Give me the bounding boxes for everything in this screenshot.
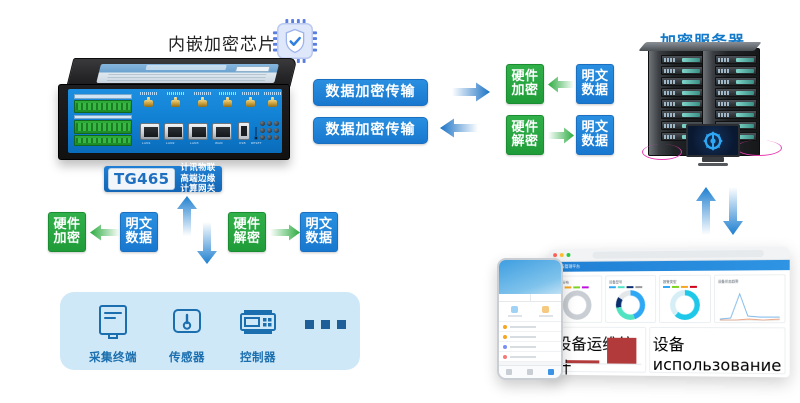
antenna-connector-1 (144, 97, 153, 110)
phone-quick-tiles[interactable] (499, 302, 561, 322)
mobile-app-mockup[interactable] (497, 258, 563, 380)
port-label-lan1: LAN1 (142, 141, 151, 145)
dashboard-card-row-1: 设备分布 设备型号 报警类型 设备状态趋势 (548, 270, 789, 327)
monitor-stand (702, 157, 724, 162)
port-label-lan3: LAN3 (190, 141, 199, 145)
phone-tab-bar[interactable] (499, 294, 561, 302)
reset-stem (255, 127, 257, 136)
device-label-acquisition-terminal: 采集终端 (78, 349, 148, 365)
terminal-label-strip-2 (74, 115, 132, 119)
arrow-right-green-decrypt-right (548, 127, 574, 148)
card-legend (609, 286, 652, 288)
arrow-up-to-gateway (176, 196, 198, 240)
flow-right-hardware-decrypt: 硬件 解密 (506, 115, 544, 155)
card-title: 设备использование统计 (653, 331, 782, 377)
window-minimize-icon[interactable] (560, 253, 564, 257)
list-item[interactable] (499, 352, 561, 362)
card-title: 设备状态趋势 (718, 278, 781, 283)
router-front-panel: LAN1 LAN2 LAN3 WAN USB RESET (68, 89, 282, 153)
flow-left-hardware-decrypt: 硬件 解密 (228, 212, 266, 252)
router-spec-lines (107, 74, 267, 81)
ellipsis-squares-icon (305, 320, 346, 329)
terminal-label-strip-1 (74, 94, 132, 99)
reset-button[interactable] (254, 136, 258, 140)
phone-hero-header (499, 260, 561, 294)
diagram-canvas: 内嵌加密芯片 (0, 0, 800, 403)
antenna-connector-3 (198, 97, 207, 110)
port-label-lan2: LAN2 (166, 141, 175, 145)
dashboard-card: 设备использование统计 (649, 327, 786, 374)
browser-address-bar[interactable] (593, 249, 764, 258)
embedded-chip-label: 内嵌加密芯片 (168, 30, 276, 55)
dashboard-card-row-2: 设备运维统计 设备использование统计 (548, 327, 789, 378)
port-label-wan: WAN (215, 141, 223, 145)
card-title: 设备型号 (609, 279, 652, 284)
status-led-array (260, 121, 279, 140)
list-item[interactable] (499, 322, 561, 332)
antenna-connector-6 (268, 97, 277, 110)
usb-port (238, 122, 250, 140)
monitor-screen (686, 124, 740, 157)
donut-chart (563, 290, 592, 320)
list-item[interactable] (499, 342, 561, 352)
port-label-reset: RESET (251, 141, 262, 145)
field-devices-panel: 采集终端 传感器 控制器 (60, 292, 360, 370)
router-chassis: LAN1 LAN2 LAN3 WAN USB RESET (58, 84, 290, 160)
server-monitor (686, 124, 740, 164)
arrow-down-from-gateway (196, 222, 218, 268)
ethernet-port-lan1 (140, 123, 160, 140)
phone-bottom-nav[interactable] (499, 365, 561, 378)
transmission-box-upload: 数据加密传输 (313, 79, 428, 106)
monitor-base (698, 163, 728, 166)
dashboard-card: 报警类型 (659, 275, 711, 323)
thermometer-sensor-icon (170, 306, 204, 342)
device-label-controller: 控制器 (220, 349, 296, 365)
device-item-acquisition-terminal[interactable]: 采集终端 (78, 304, 148, 365)
router-sku-box (235, 66, 270, 72)
dashboard-card: 设备状态趋势 (714, 274, 786, 323)
device-model-plate: TG465 计讯物联 高端边缘计算网关 (104, 166, 222, 192)
arrow-left-transmit (440, 118, 478, 142)
server-cable-left (642, 144, 682, 160)
antenna-connector-4 (223, 97, 232, 110)
antenna-connector-5 (246, 97, 255, 110)
device-label-sensor: 传感器 (152, 349, 222, 365)
device-brand-text: 计讯物联 高端边缘计算网关 (180, 163, 222, 195)
ethernet-port-lan3 (188, 123, 208, 140)
flow-right-hardware-encrypt: 硬件 加密 (506, 64, 544, 104)
arrow-left-green-encrypt (90, 224, 120, 245)
donut-chart (670, 290, 700, 320)
acquisition-terminal-icon (96, 304, 130, 342)
card-title: 报警类型 (663, 279, 707, 284)
server-cable-right (736, 140, 782, 156)
terminal-block-bottom (74, 135, 132, 146)
encryption-server-group: 加密服务器 (640, 28, 785, 178)
gear-icon (700, 128, 726, 154)
window-zoom-icon[interactable] (567, 253, 571, 257)
terminal-block-top (74, 100, 132, 113)
arrow-left-green-encrypt-right (548, 76, 574, 97)
ethernet-port-wan (212, 123, 232, 140)
arrow-right-transmit (452, 82, 490, 106)
line-chart (718, 285, 781, 322)
window-close-icon[interactable] (553, 253, 557, 257)
donut-chart (616, 290, 645, 320)
transmission-box-download: 数据加密传输 (313, 117, 428, 144)
port-label-usb: USB (239, 141, 246, 145)
arrow-right-green-decrypt (270, 224, 300, 245)
terminal-block-mid (74, 120, 132, 134)
dashboard-card: 设备型号 (605, 275, 656, 323)
rack-top-cap-2 (692, 42, 762, 51)
arrow-down-to-dashboard (722, 187, 744, 239)
controller-icon (236, 306, 280, 342)
card-legend (663, 286, 707, 288)
dashboard-browser-window[interactable]: 智能云管理平台 设备分布 设备型号 报警类型 设备状态趋势 (548, 247, 789, 378)
flow-left-hardware-encrypt: 硬件 加密 (48, 212, 86, 252)
flow-left-plaintext-data: 明文 数据 (120, 212, 158, 252)
flow-right-plaintext-data-2: 明文 数据 (576, 115, 614, 155)
flow-left-plaintext-data-2: 明文 数据 (300, 212, 338, 252)
antenna-connector-2 (171, 97, 180, 110)
tg465-router-device: LAN1 LAN2 LAN3 WAN USB RESET (58, 58, 290, 168)
flow-right-plaintext-data: 明文 数据 (576, 64, 614, 104)
device-model-name: TG465 (108, 168, 175, 190)
router-brand-mark (145, 65, 226, 70)
router-top-label (96, 64, 279, 83)
ethernet-port-lan2 (164, 123, 184, 140)
list-item[interactable] (499, 332, 561, 342)
dashboard-card: 设备运维统计 (552, 327, 646, 373)
device-item-controller[interactable]: 控制器 (220, 306, 296, 365)
bar-item (607, 338, 636, 364)
arrow-up-to-server (695, 187, 717, 239)
device-item-sensor[interactable]: 传感器 (152, 306, 222, 365)
